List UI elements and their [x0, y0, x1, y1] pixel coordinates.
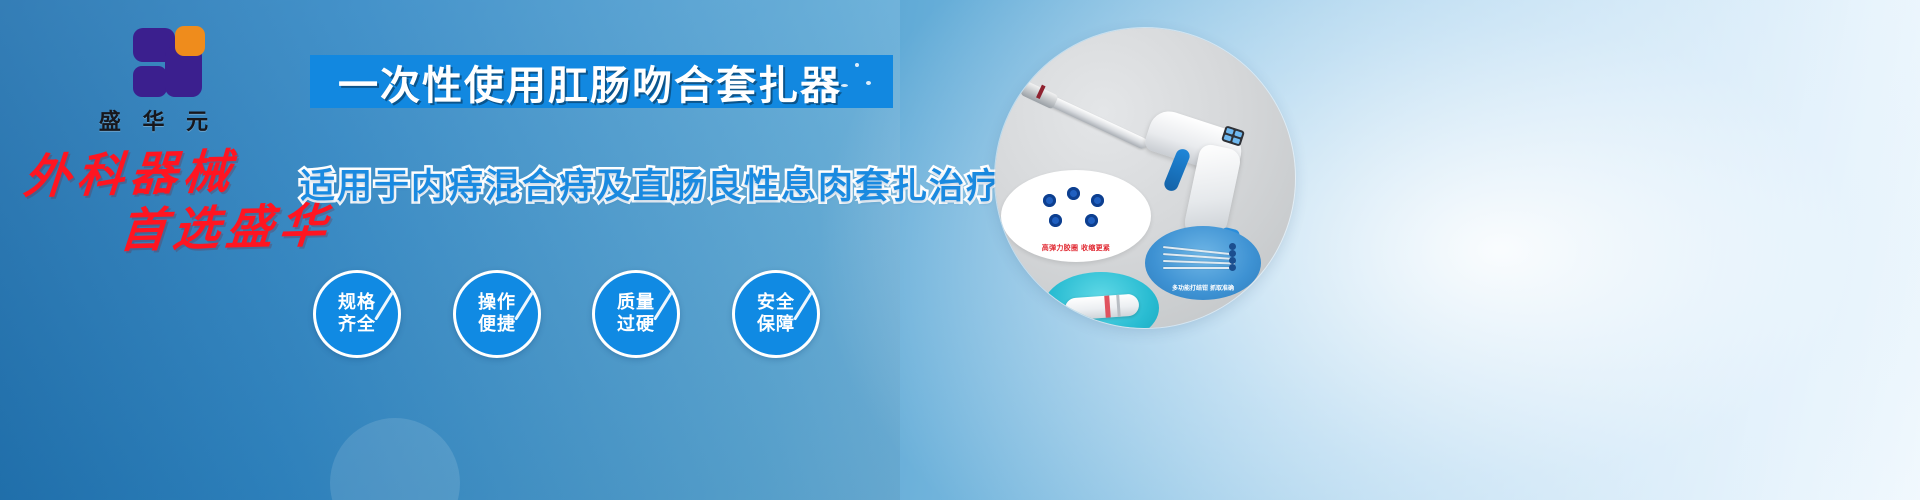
- slash-icon: [374, 283, 399, 320]
- feature-label-0-line2: 齐全: [338, 314, 376, 336]
- product-title-bar: 一次性使用肛肠吻合套扎器: [310, 55, 893, 108]
- decorative-bubble: [330, 418, 460, 500]
- feature-label-0-line1: 规格: [338, 292, 376, 314]
- feature-badge-1[interactable]: 操作 便捷: [453, 270, 541, 358]
- sparkle-icon-2: [841, 84, 848, 87]
- feature-badge-list: 规格 齐全 操作 便捷 质量 过硬 安全 保障: [313, 270, 873, 370]
- feature-label-1-line1: 操作: [478, 292, 516, 314]
- feature-label-1-line2: 便捷: [478, 314, 516, 336]
- rubber-ring-icon-1: [1043, 194, 1056, 207]
- inset-anoscope: [1043, 272, 1159, 328]
- inset-instrument-tray: 多功能打结钳 抓取准确: [1145, 226, 1261, 300]
- sparkle-icon-3: [866, 81, 871, 85]
- inset-tray-caption: 多功能打结钳 抓取准确: [1145, 283, 1261, 292]
- instrument-rod-4: [1163, 267, 1235, 269]
- logo-block-accent: [175, 26, 205, 56]
- instrument-head-2: [1229, 250, 1236, 257]
- instrument-head-3: [1229, 257, 1236, 264]
- sparkle-icon-1: [855, 63, 859, 67]
- slash-icon: [514, 283, 539, 320]
- slash-icon: [793, 283, 818, 320]
- product-subtitle: 适用于内痔混合痔及直肠良性息肉套扎治疗: [300, 158, 940, 209]
- feature-label-3-line2: 保障: [757, 314, 795, 336]
- rubber-ring-icon-5: [1085, 214, 1098, 227]
- feature-badge-0[interactable]: 规格 齐全: [313, 270, 401, 358]
- rubber-ring-icon-4: [1049, 214, 1062, 227]
- rubber-ring-icon-3: [1091, 194, 1104, 207]
- feature-label-2-line2: 过硬: [617, 314, 655, 336]
- instrument-head-4: [1229, 264, 1236, 271]
- product-title: 一次性使用肛肠吻合套扎器: [338, 53, 842, 111]
- instrument-rod-3: [1163, 260, 1235, 265]
- feature-badge-3[interactable]: 安全 保障: [732, 270, 820, 358]
- feature-label-3-line1: 安全: [757, 292, 795, 314]
- anoscope-icon: [1064, 293, 1139, 320]
- inset-rubber-rings: 高弹力胶圈 收缩更紧: [1001, 170, 1151, 262]
- feature-badge-2[interactable]: 质量 过硬: [592, 270, 680, 358]
- promo-banner: 盛 华 元 外科器械 首选盛华 一次性使用肛肠吻合套扎器 适用于内痔混合痔及直肠…: [0, 0, 1920, 500]
- inset-rings-caption: 高弹力胶圈 收缩更紧: [1001, 243, 1151, 253]
- feature-label-2-line1: 质量: [617, 292, 655, 314]
- rubber-ring-icon-2: [1067, 187, 1080, 200]
- logo-mark-icon: [109, 26, 205, 98]
- brand-logo[interactable]: 盛 华 元: [62, 26, 252, 131]
- brand-name: 盛 华 元: [62, 104, 252, 136]
- logo-block-2: [133, 66, 167, 97]
- product-photo: 高弹力胶圈 收缩更紧 多功能打结钳 抓取准确: [995, 28, 1295, 328]
- slash-icon: [653, 283, 678, 320]
- instrument-head-1: [1229, 243, 1236, 250]
